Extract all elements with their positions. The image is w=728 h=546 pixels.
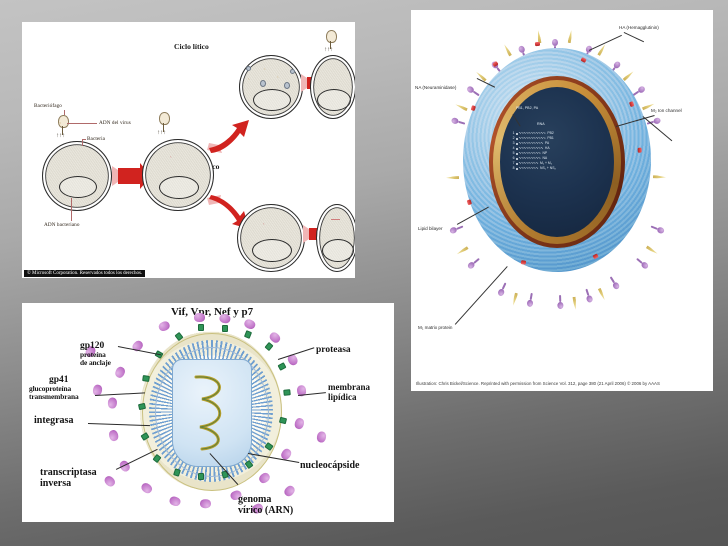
bacterium-cell-lytic: ͅ ͅ ͅ [239,55,303,119]
gp120-knob-icon [108,397,118,409]
label-integrase: integrasa [34,416,73,427]
gp120-knob-icon [243,318,257,331]
label-protease: proteasa [316,345,351,355]
rna-polymerase-dot-icon [516,163,518,165]
m2-channel-icon [521,260,527,265]
na-spike-icon [511,289,519,306]
gp120-knob-icon [294,417,305,430]
rna-segment-number: 8 [511,166,515,171]
na-spike-icon [455,102,472,113]
label-ha: HA (Hemagglutinin) [619,25,659,30]
influenza-illustration-canvas: PB1, PB2, PA RNA 1∿∿∿∿∿∿∿∿∿∿∿PB22∿∿∿∿∿∿∿… [411,10,713,362]
caption-influenza: Illustration: Chris Bickel/Science. Repr… [416,381,709,388]
label-gp41-sub-line2: transmembrana [29,393,79,401]
na-spike-icon [571,293,577,310]
phage-legs-icon-2: ↑↑↑ [157,130,166,136]
bacterial-nucleoid-2 [159,176,199,199]
na-spike-icon [503,43,515,60]
ha-spike-icon [557,294,564,310]
label-reverse-transcriptase-line2: inversa [40,479,71,490]
label-virus-dna: ADN del virus [99,120,131,126]
ha-spike-icon [649,223,666,235]
gp41-stalk-icon [283,389,291,396]
rna-segment-list: 1∿∿∿∿∿∿∿∿∿∿∿PB22∿∿∿∿∿∿∿∿∿∿∿PB13∿∿∿∿∿∿∿∿∿… [511,131,556,171]
gp41-stalk-icon [142,375,150,382]
label-bacterial-dna: ADN bacteriano [44,222,80,228]
na-spike-icon [456,243,473,255]
gp41-stalk-icon [244,330,252,339]
label-m2-ion-channel: M₂ Ion channel [651,108,682,113]
ha-spike-icon [526,291,535,308]
label-rna: RNA [537,122,545,126]
phage-diagram-canvas: Ciclo lítico Ciclo lisogénico ͅ ↑↑↑ Bact… [22,22,355,278]
bacterial-nucleoid-5 [252,239,292,262]
heading-lytic-cycle: Ciclo lítico [174,42,209,51]
label-lipid-bilayer: Lipid bilayer [418,226,443,231]
rna-polymerase-dot-icon [516,168,518,170]
rna-segment-wave-icon: ∿∿∿∿∿∿∿∿ [519,166,539,171]
hiv-rna-genome [188,369,236,455]
leader-virus-dna [67,123,97,124]
leader-gp41 [95,392,145,395]
credit-microsoft: © Microsoft Corporation. Reservados todo… [24,270,145,277]
bacterium-cell-lytic-next: ͅ [310,55,355,119]
label-na: NA (Neuraminidase) [415,85,456,90]
ha-spike-icon [634,256,650,271]
bacterium-cell-lysogenic: ͅ [237,204,305,272]
label-m1-matrix-protein: M₁ matrix protein [418,325,452,330]
phage-legs-icon: ↑↑↑ [56,133,65,139]
na-spike-icon [567,30,574,47]
bacterial-nucleoid-6 [322,239,354,262]
gp120-knob-icon [157,320,171,333]
figure-hiv-virion: Vif, Vpr, Nef y p7 [22,303,394,522]
slide-canvas: Ciclo lítico Ciclo lisogénico ͅ ↑↑↑ Bact… [0,0,728,546]
label-nucleocapsid: nucleocápside [300,461,359,472]
gp41-stalk-icon [278,362,287,371]
bacterium-cell-lysogenic-next [316,204,355,272]
na-spike-icon [642,243,659,255]
ha-spike-icon [466,256,482,271]
gp41-stalk-icon [198,324,204,331]
na-spike-icon [595,284,606,301]
phage-head-icon [58,115,69,128]
leader-ha-2 [624,32,644,42]
gp120-knob-icon [257,471,271,485]
ha-spike-icon [607,274,621,291]
rna-polymerase-dot-icon [516,138,518,140]
ha-spike-icon [583,287,594,304]
figure-bacteriophage-cycles: Ciclo lítico Ciclo lisogénico ͅ ↑↑↑ Bact… [22,22,355,278]
prophage-marker [331,219,340,220]
gp120-knob-icon [114,365,127,379]
bacterial-nucleoid [59,176,97,198]
arrow-to-lytic [206,118,250,154]
rna-polymerase-dot-icon [516,148,518,150]
bacterium-cell-2: ͅ [142,139,214,211]
gp120-knob-icon [108,429,119,442]
bacterium-cell-1 [42,141,112,211]
phage-head-icon-2 [159,112,170,125]
rna-polymerase-dot-icon [516,143,518,145]
bacterial-nucleoid-4 [317,89,351,111]
gp41-stalk-icon [222,325,228,332]
gp41-stalk-icon [198,473,204,480]
na-spike-icon [446,175,463,180]
label-bacterium: Bacteria [87,136,105,142]
figure-influenza-virion: PB1, PB2, PA RNA 1∿∿∿∿∿∿∿∿∿∿∿PB22∿∿∿∿∿∿∿… [411,10,713,391]
gp120-knob-icon [316,431,327,443]
gp41-stalk-icon [264,342,273,351]
label-polymerase-complex: PB1, PB2, PA [516,106,538,110]
label-lipid-membrane-line2: lipídica [328,393,357,403]
gp120-knob-icon [200,499,211,508]
leader-reverse-transcriptase [116,449,158,470]
released-phage-legs: ↑↑↑ [324,47,333,53]
rna-polymerase-dot-icon [516,133,518,135]
label-gp120-sub-line2: de anclaje [80,359,111,367]
rna-polymerase-dot-icon [516,153,518,155]
label-genome-line2: vírico (ARN) [238,506,293,517]
released-phage-head [326,30,337,43]
ha-spike-icon [450,117,467,127]
m2-channel-icon [637,148,642,153]
gp120-knob-icon [194,313,205,322]
rna-polymerase-dot-icon [516,158,518,160]
gp120-knob-icon [168,495,181,507]
ha-spike-icon [448,223,465,235]
na-spike-icon [649,175,666,180]
rna-segment-row: 8∿∿∿∿∿∿∿∿NS₁ + NS₂ [511,166,556,171]
ha-spike-icon [497,281,509,298]
rna-segment-name: NS₁ + NS₂ [540,166,556,171]
gp120-knob-icon [103,474,117,488]
title-hiv-accessory-proteins: Vif, Vpr, Nef y p7 [171,307,253,319]
gp120-knob-icon [140,481,154,495]
gp120-knob-icon [219,313,231,324]
bacterial-nucleoid-3 [253,89,291,111]
gp120-knob-icon [282,484,296,498]
label-bacteriophage: Bacteriófago [34,103,62,109]
